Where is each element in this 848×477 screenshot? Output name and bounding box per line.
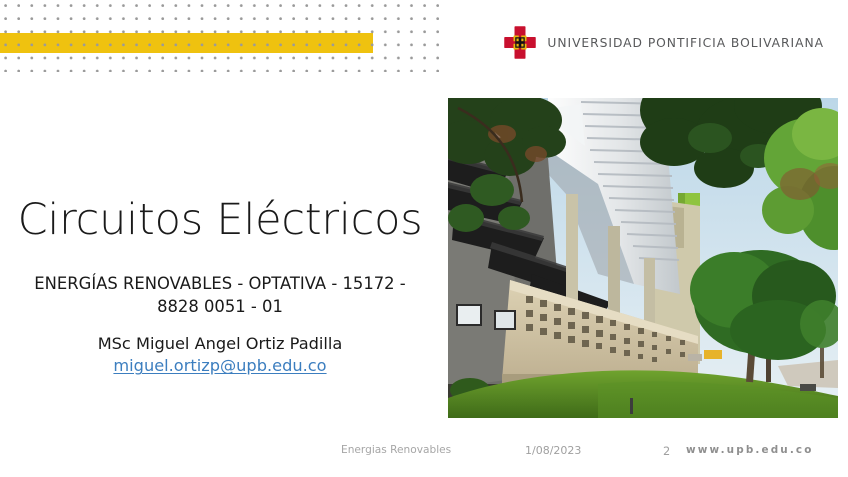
slide-footer: Energias Renovables 1/08/2023 2 www.upb.… xyxy=(0,444,848,466)
slide-canvas: UNIVERSIDAD PONTIFICIA BOLIVARIANA xyxy=(0,0,848,477)
author-name: MSc Miguel Angel Ortiz Padilla xyxy=(0,333,440,355)
email-link[interactable]: miguel.ortizp@upb.edu.co xyxy=(113,356,326,375)
campus-building-photo xyxy=(448,98,838,418)
footer-date: 1/08/2023 xyxy=(525,444,581,457)
footer-website: www.upb.edu.co xyxy=(686,444,814,456)
footer-page-number: 2 xyxy=(663,444,670,458)
yellow-accent-bar xyxy=(0,33,373,53)
upb-shield-cross-icon xyxy=(504,26,536,59)
course-subtitle: ENERGÍAS RENOVABLES - OPTATIVA - 15172 -… xyxy=(26,272,414,319)
brand-lockup: UNIVERSIDAD PONTIFICIA BOLIVARIANA xyxy=(504,26,824,59)
brand-name-text: UNIVERSIDAD PONTIFICIA BOLIVARIANA xyxy=(547,36,824,50)
title-block: Circuitos Eléctricos ENERGÍAS RENOVABLES… xyxy=(0,196,440,376)
page-title: Circuitos Eléctricos xyxy=(0,196,440,244)
email-line: miguel.ortizp@upb.edu.co xyxy=(0,356,440,376)
footer-subject: Energias Renovables xyxy=(341,444,451,456)
